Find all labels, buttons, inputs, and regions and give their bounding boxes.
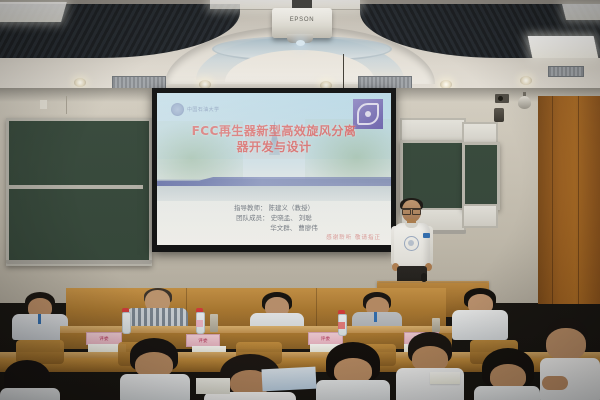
audience-3-torso <box>316 380 390 400</box>
university-logo-icon <box>171 103 184 116</box>
wall-conduit <box>66 96 67 114</box>
audience-6-head <box>546 328 586 360</box>
audience-7 <box>0 360 60 400</box>
slide-title: FCC再生器新型高效旋风分离 器开发与设计 <box>157 123 391 155</box>
slide-team-line-2: 华文群、 曹廖伟 <box>157 223 391 233</box>
left-board-divider <box>9 185 143 189</box>
light-panel-right <box>528 36 599 58</box>
paper-stack-front <box>196 378 230 394</box>
bottle-cap-1 <box>122 308 129 312</box>
audience-7-torso <box>0 388 60 400</box>
judge-1-lanyard <box>38 314 41 324</box>
thermos-cup-2 <box>432 318 440 332</box>
lecture-hall-photo: EPSON <box>0 0 600 400</box>
bottle-cap-3 <box>338 310 345 314</box>
bottle-cap-2 <box>196 308 203 312</box>
projector-beam-glow <box>296 40 305 46</box>
wood-seam-1 <box>552 96 553 304</box>
slide-advisor-line: 指导教师： 陈建义（教授） <box>157 203 391 213</box>
air-vent-far-right <box>548 66 584 77</box>
slide-team-line-1: 团队成员： 史晓孟、 刘聪 <box>157 213 391 223</box>
audience-4 <box>396 332 464 400</box>
water-bottle-1 <box>122 312 131 334</box>
microphone <box>421 273 427 282</box>
left-blackboard <box>6 118 152 266</box>
left-chalk-tray <box>6 260 152 264</box>
open-notebook <box>261 367 316 392</box>
badge-emblem-icon <box>357 103 379 125</box>
university-logo-text: 中国石油大学 <box>187 106 219 113</box>
dome-security-camera <box>518 96 531 109</box>
projector-brand-label: EPSON <box>272 17 332 23</box>
wall-plate <box>40 100 47 109</box>
audience-5 <box>474 348 540 400</box>
judge-4-lanyard <box>374 312 377 322</box>
light-panel-far-left <box>0 2 67 22</box>
slide-university-logo: 中国石油大学 <box>171 103 219 116</box>
wall-speaker <box>494 108 504 122</box>
slide-credits: 指导教师： 陈建义（教授） 团队成员： 史晓孟、 刘聪 华文群、 曹廖伟 <box>157 203 391 233</box>
slide-title-line-1: FCC再生器新型高效旋风分离 <box>157 123 391 139</box>
audience-6-hands <box>542 376 568 390</box>
audience-1-torso <box>120 374 190 400</box>
bottle-label-2 <box>196 320 203 327</box>
downlight-5 <box>520 76 532 85</box>
presenter-shirt-logo <box>404 236 419 251</box>
presenter-sleeve-tag <box>423 233 430 238</box>
right-blackboard <box>462 142 500 210</box>
downlight-1 <box>74 78 86 87</box>
projection-screen: 中国石油大学 FCC再生器新型高效旋风分离 器开发与设计 指导教师： 陈建义（教… <box>157 93 391 245</box>
audience-1 <box>120 338 190 400</box>
ceiling: EPSON <box>0 0 600 92</box>
camera-lens-icon <box>498 96 503 101</box>
slide-footer-note: 感谢聆听 敬请指正 <box>326 233 381 241</box>
presenter-glasses-icon <box>402 208 421 213</box>
light-panel-far-right <box>562 4 600 20</box>
audience-6 <box>540 318 600 400</box>
right-whiteboard-bottom <box>462 204 498 228</box>
audience-3 <box>316 342 390 400</box>
slide-title-line-2: 器开发与设计 <box>157 139 391 155</box>
bottle-label-3 <box>338 322 345 329</box>
wood-wall-panel <box>538 96 600 304</box>
table-seam-2 <box>316 288 317 328</box>
thermos-cup-1 <box>210 314 218 332</box>
document-front <box>430 372 460 384</box>
audience-5-torso <box>474 386 540 400</box>
wood-seam-2 <box>578 96 579 304</box>
